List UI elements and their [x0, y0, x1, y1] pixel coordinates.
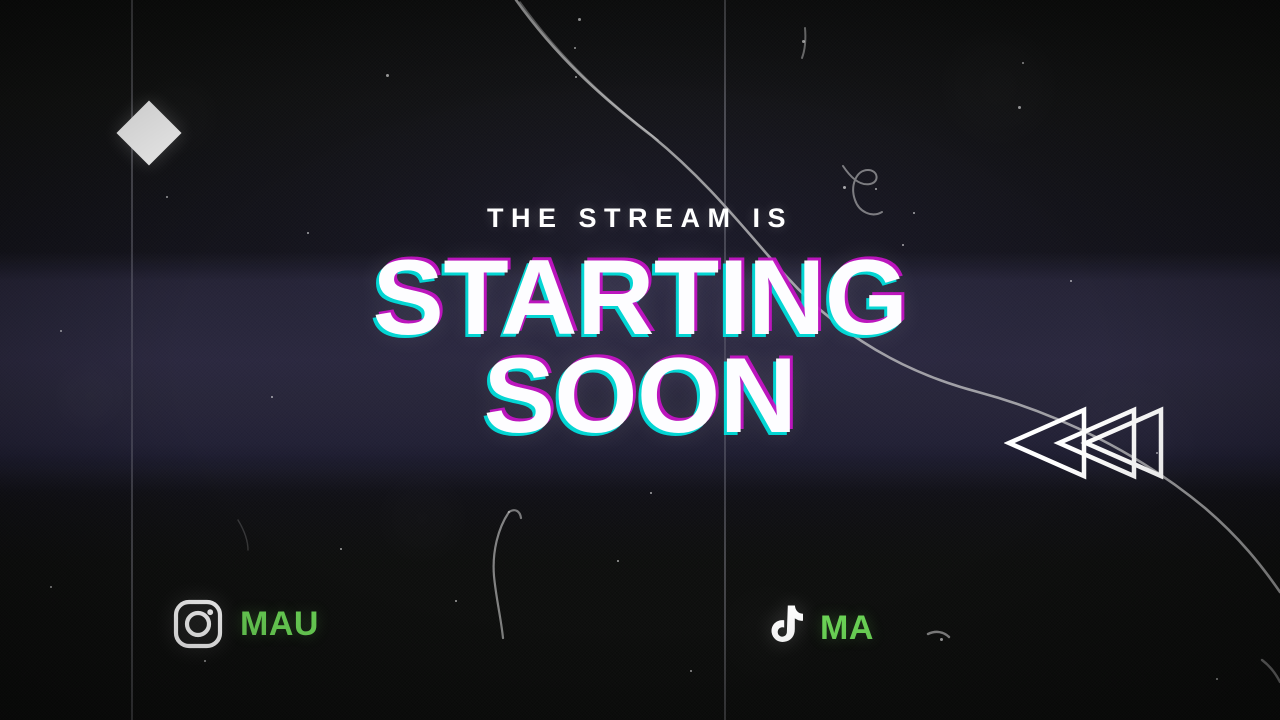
tiktok-icon [762, 604, 804, 652]
stream-starting-soon-overlay: THE STREAM IS STARTING SOON MAU [0, 0, 1280, 720]
instagram-handle: MAU [240, 607, 319, 641]
instagram-icon [172, 598, 224, 650]
eyebrow-text: THE STREAM IS [0, 205, 1280, 232]
headline-line-1: STARTING [0, 248, 1280, 346]
social-instagram[interactable]: MAU [172, 598, 319, 650]
instagram-icon-svg [172, 598, 224, 650]
social-tiktok[interactable]: MA [762, 604, 874, 652]
rewind-icon-svg [1004, 406, 1166, 480]
rewind-icon[interactable] [1004, 406, 1166, 480]
tiktok-icon-svg [762, 604, 804, 652]
tiktok-handle: MA [820, 611, 874, 645]
